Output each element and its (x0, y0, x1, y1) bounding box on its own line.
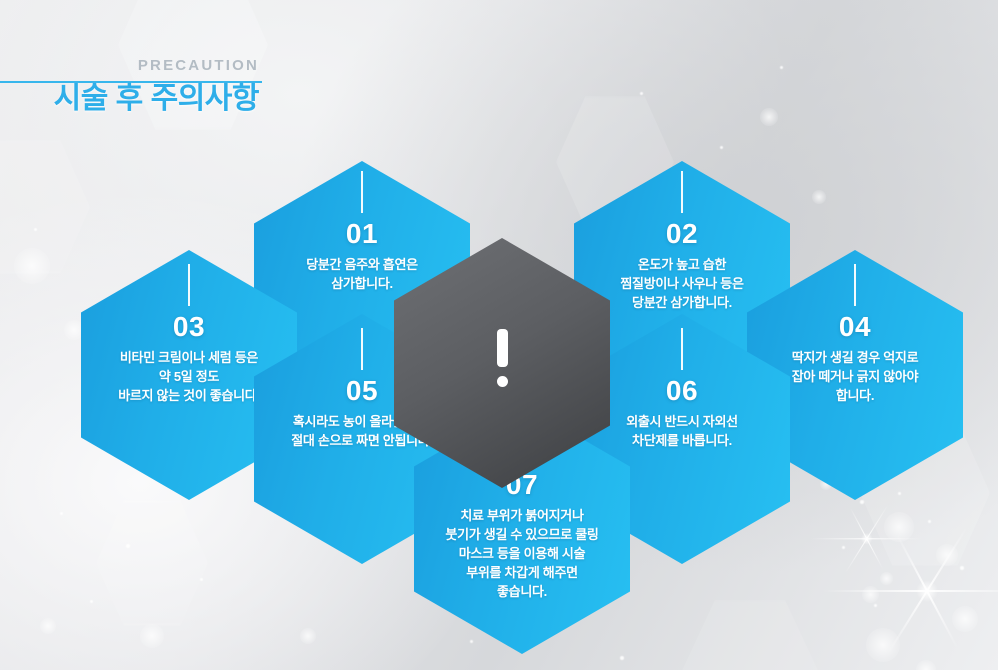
exclamation-bar (497, 329, 508, 367)
infographic-canvas: PRECAUTION 시술 후 주의사항 01 당분간 음주와 흡연은 삼가합니… (0, 0, 998, 670)
stem-line (361, 171, 363, 213)
hex-number: 03 (81, 312, 297, 342)
hex-text: 치료 부위가 붉어지거나 붓기가 생길 수 있으므로 쿨링 마스크 등을 이용해… (418, 506, 626, 601)
hex-number: 02 (574, 219, 790, 249)
stem-line (681, 171, 683, 213)
header: PRECAUTION 시술 후 주의사항 (0, 56, 262, 118)
stem-line (361, 328, 363, 370)
stem-line (188, 264, 190, 306)
header-kicker: PRECAUTION (0, 56, 262, 76)
hex-number: 01 (254, 219, 470, 249)
exclamation-dot (497, 376, 508, 387)
hex-number: 04 (747, 312, 963, 342)
stem-line (681, 328, 683, 370)
page-title: 시술 후 주의사항 (0, 76, 262, 118)
stem-line (854, 264, 856, 306)
exclamation-mark-icon (495, 329, 509, 387)
